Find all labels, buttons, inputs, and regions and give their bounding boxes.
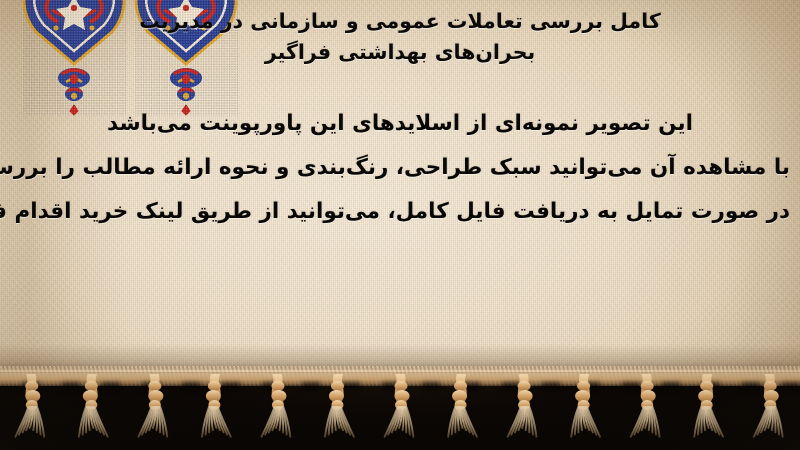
- tassel: [448, 374, 477, 437]
- body-line-2: با مشاهده آن می‌توانید سبک طراحی، رنگ‌بن…: [10, 152, 790, 184]
- title-line-1: کامل بررسی تعاملات عمومی و سازمانی در مد…: [14, 6, 786, 37]
- body-line-3: در صورت تمایل به دریافت فایل کامل، می‌تو…: [10, 196, 790, 228]
- tassel: [262, 374, 291, 437]
- title-line-2: بحران‌های بهداشتی فراگیر: [14, 37, 786, 68]
- tassel: [79, 374, 108, 437]
- slide-title: کامل بررسی تعاملات عمومی و سازمانی در مد…: [0, 6, 800, 68]
- tassel: [694, 374, 723, 437]
- carpet-fringe: [0, 360, 800, 450]
- tassel: [571, 374, 600, 437]
- slide-canvas: کامل بررسی تعاملات عمومی و سازمانی در مد…: [0, 0, 800, 450]
- tassel: [15, 374, 44, 437]
- slide-body-text: این تصویر نمونه‌ای از اسلایدهای این پاور…: [0, 108, 800, 227]
- tassel: [202, 374, 231, 437]
- tassel-row: [0, 374, 800, 450]
- tassel: [325, 374, 354, 437]
- tassel: [754, 374, 783, 437]
- tassel: [631, 374, 660, 437]
- body-line-1: این تصویر نمونه‌ای از اسلایدهای این پاور…: [10, 108, 790, 140]
- tassel: [508, 374, 537, 437]
- tassel: [138, 374, 167, 437]
- tassel: [385, 374, 414, 437]
